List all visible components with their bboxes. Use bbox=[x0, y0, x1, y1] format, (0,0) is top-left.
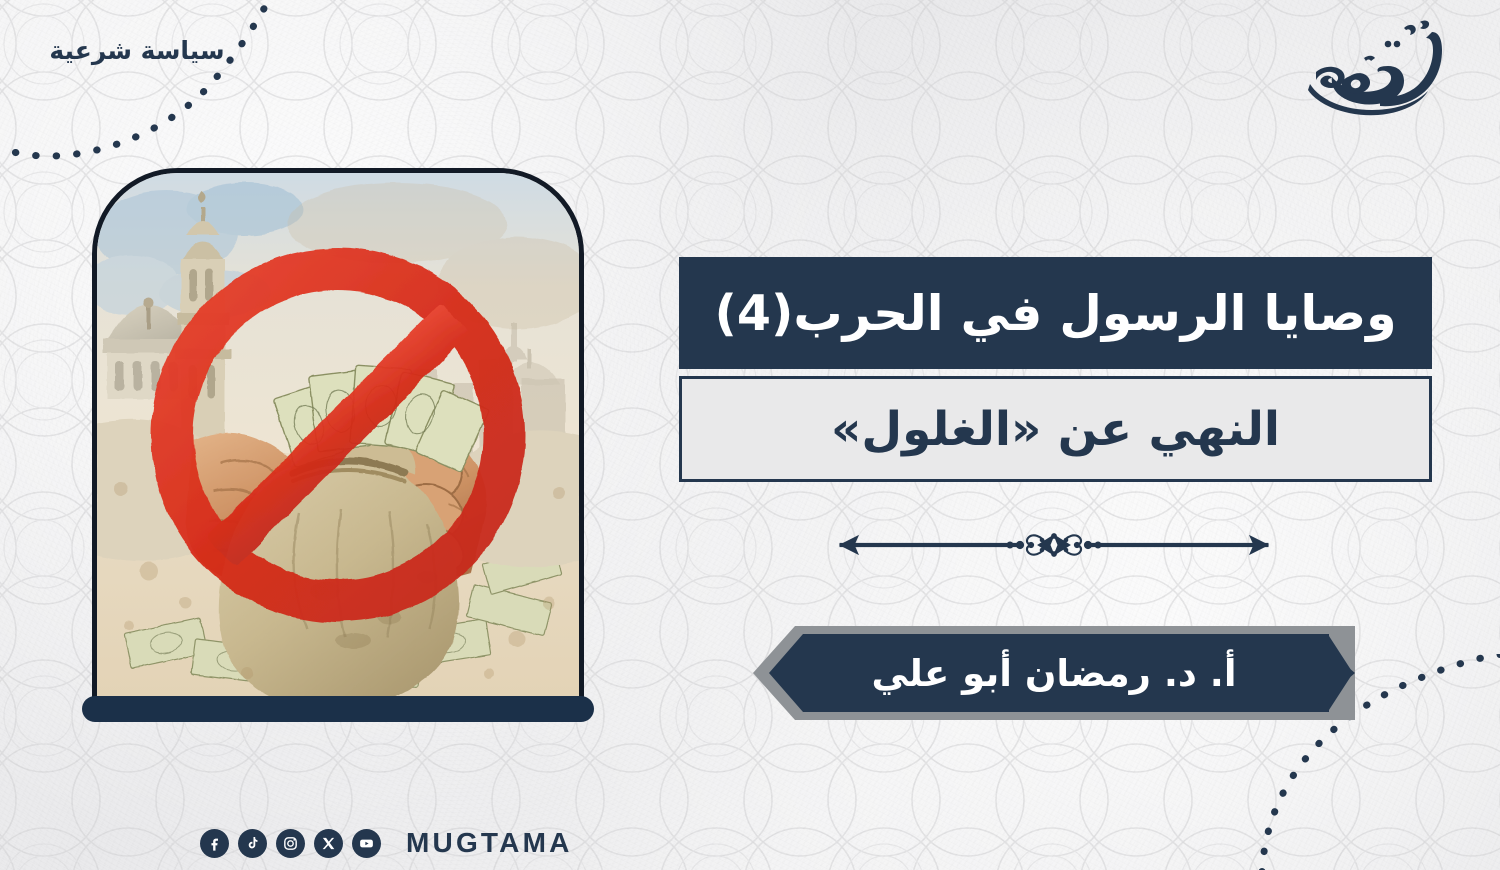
brand-wordmark: MUGTAMA bbox=[406, 827, 573, 859]
article-subtitle: النهي عن «الغلول» bbox=[831, 406, 1280, 453]
money-bag-prohibition-illustration bbox=[97, 173, 579, 698]
instagram-icon[interactable] bbox=[276, 829, 305, 858]
article-subtitle-box: النهي عن «الغلول» bbox=[679, 376, 1432, 482]
x-twitter-icon[interactable] bbox=[314, 829, 343, 858]
article-title-bar: وصايا الرسول في الحرب(4) bbox=[679, 257, 1432, 369]
ornamental-divider-icon bbox=[806, 528, 1302, 562]
author-ribbon: أ. د. رمضان أبو علي bbox=[753, 618, 1355, 728]
artwork-base-bar bbox=[82, 696, 594, 722]
tiktok-icon[interactable] bbox=[238, 829, 267, 858]
artwork-frame bbox=[92, 168, 584, 703]
article-title: وصايا الرسول في الحرب(4) bbox=[714, 289, 1396, 338]
dotted-arc-top-left-icon bbox=[0, 0, 284, 171]
category-label: سياسة شرعية bbox=[22, 36, 252, 65]
artwork-container bbox=[92, 168, 584, 703]
facebook-icon[interactable] bbox=[200, 829, 229, 858]
author-name: أ. د. رمضان أبو علي bbox=[753, 618, 1355, 728]
mujtama-calligraphy-logo[interactable] bbox=[1292, 14, 1462, 129]
footer-social-bar: MUGTAMA bbox=[200, 824, 573, 862]
poster-canvas: سياسة شرعية bbox=[0, 0, 1500, 870]
youtube-icon[interactable] bbox=[352, 829, 381, 858]
